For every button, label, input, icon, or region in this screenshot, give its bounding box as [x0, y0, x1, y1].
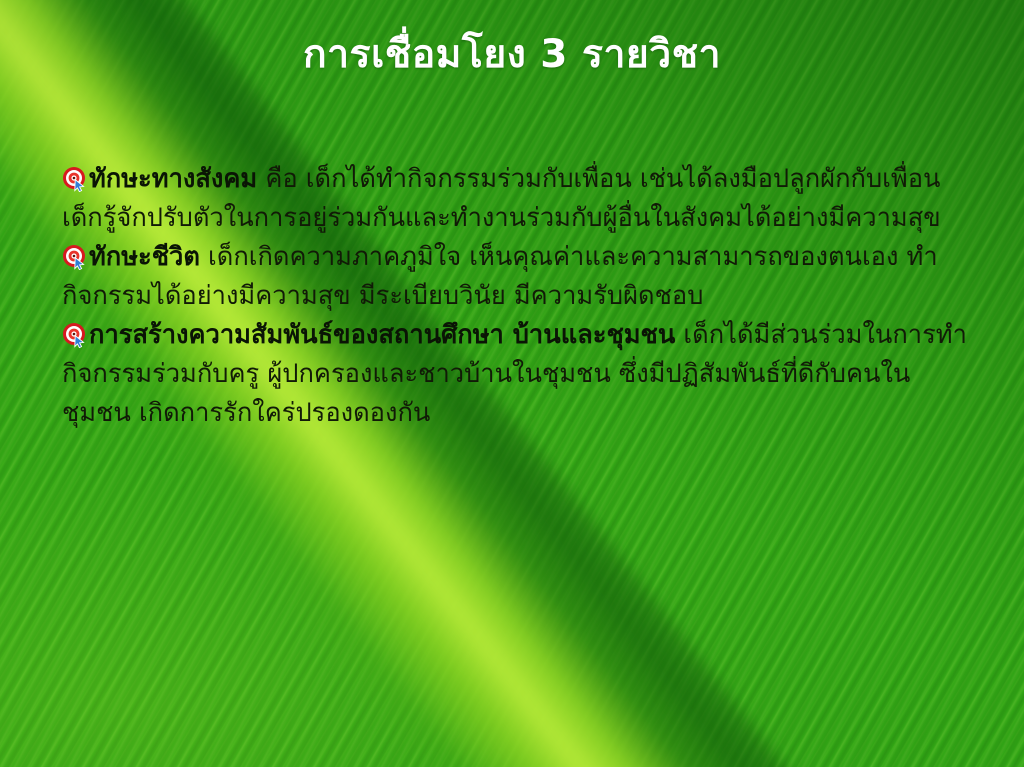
bullet-lead: ทักษะทางสังคม	[89, 164, 257, 194]
bullet-list: ทักษะทางสังคม คือ เด็กได้ทำกิจกรรมร่วมกั…	[62, 160, 974, 433]
target-cursor-icon	[62, 322, 88, 348]
bullet-lead: การสร้างความสัมพันธ์ของสถานศึกษา บ้านและ…	[89, 320, 675, 350]
bullet-lead: ทักษะชีวิต	[89, 242, 200, 272]
bullet-item: การสร้างความสัมพันธ์ของสถานศึกษา บ้านและ…	[62, 316, 974, 433]
slide: การเชื่อมโยง 3 รายวิชา ทักษะทางสังคม คือ…	[0, 0, 1024, 767]
bullet-item: ทักษะทางสังคม คือ เด็กได้ทำกิจกรรมร่วมกั…	[62, 160, 974, 238]
target-cursor-icon	[62, 166, 88, 192]
slide-title: การเชื่อมโยง 3 รายวิชา	[0, 33, 1024, 78]
bullet-item: ทักษะชีวิต เด็กเกิดความภาคภูมิใจ เห็นคุณ…	[62, 238, 974, 316]
target-cursor-icon	[62, 244, 88, 270]
slide-content: การเชื่อมโยง 3 รายวิชา ทักษะทางสังคม คือ…	[0, 0, 1024, 767]
